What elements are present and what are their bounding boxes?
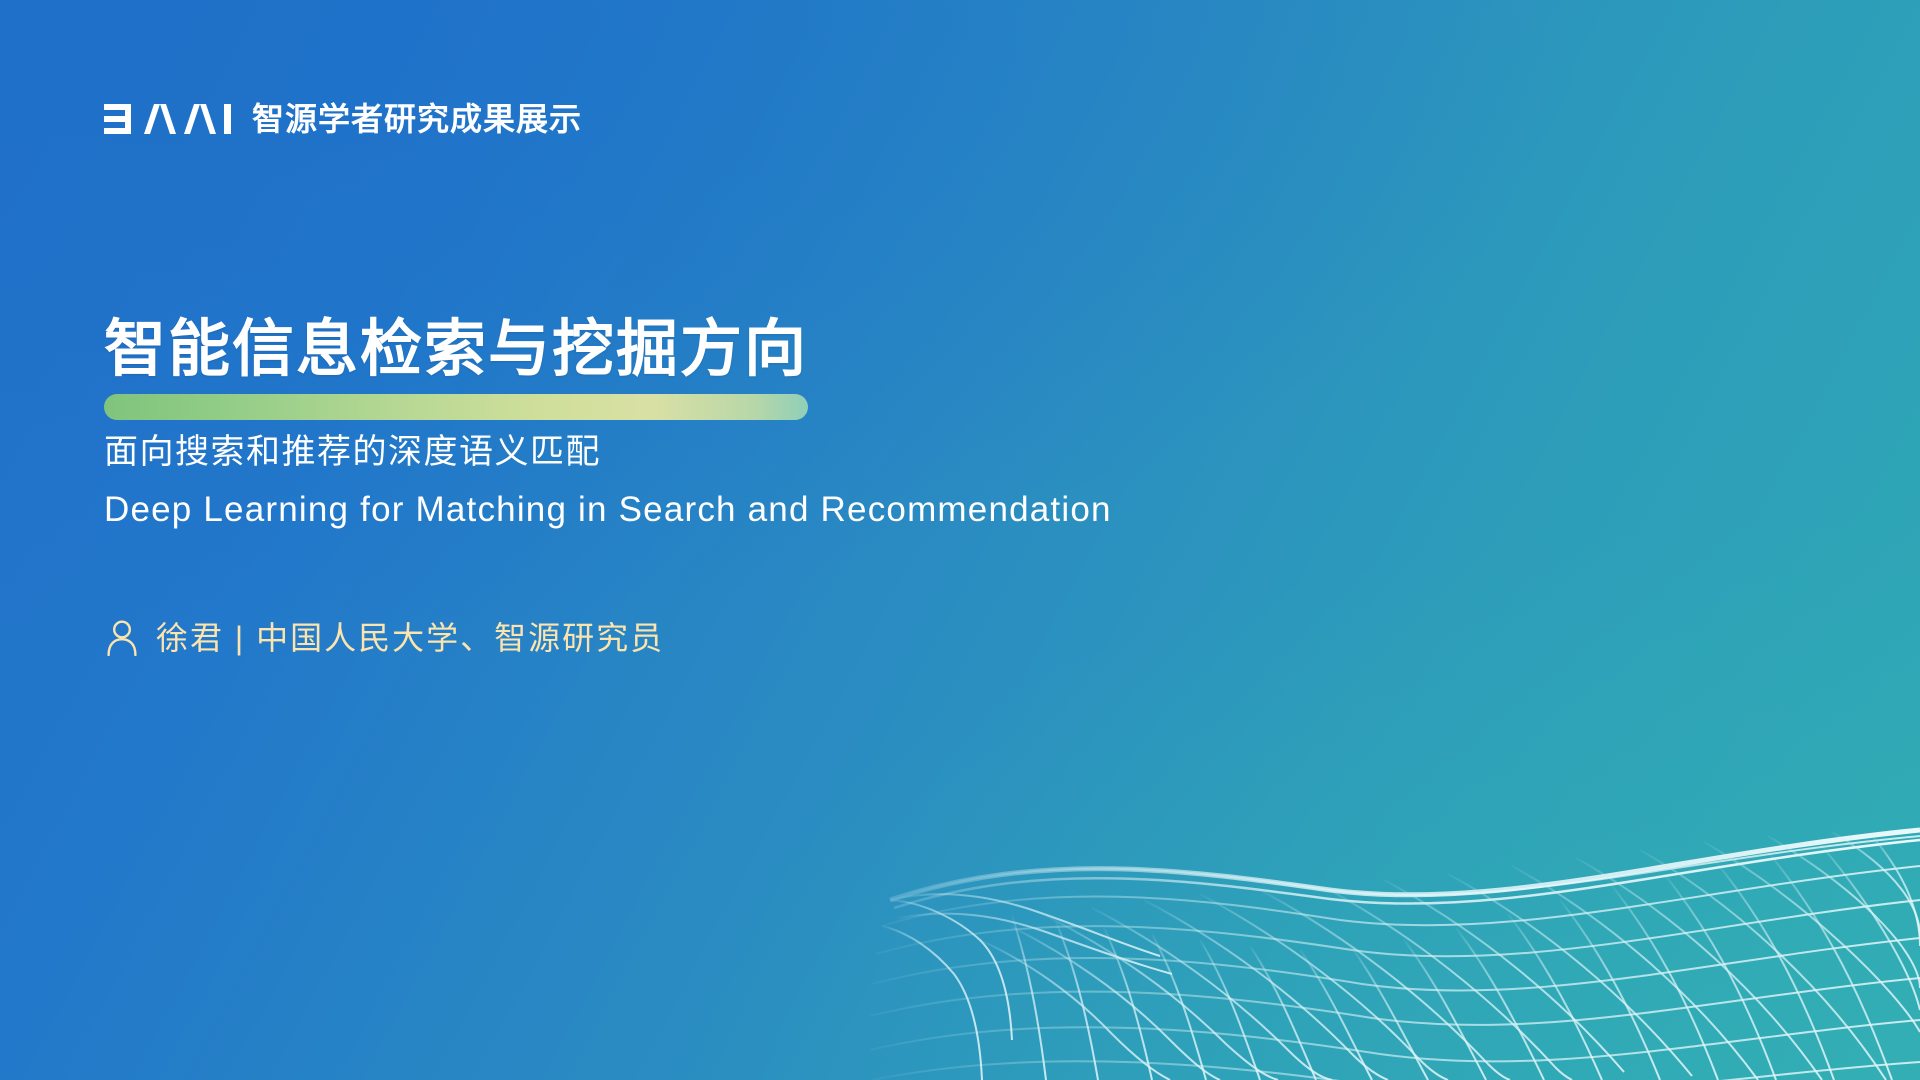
slide-content: 智源学者研究成果展示 智能信息检索与挖掘方向 面向搜索和推荐的深度语义匹配 De… xyxy=(0,0,1920,1080)
baai-wordmark-icon xyxy=(104,103,234,135)
brand-label: 智源学者研究成果展示 xyxy=(252,103,582,135)
page-title: 智能信息检索与挖掘方向 xyxy=(104,315,808,384)
subtitle-english: Deep Learning for Matching in Search and… xyxy=(104,485,1112,536)
author-label: 徐君 | 中国人民大学、智源研究员 xyxy=(156,622,664,654)
author-line: 徐君 | 中国人民大学、智源研究员 xyxy=(106,620,664,656)
presentation-slide: 智源学者研究成果展示 智能信息检索与挖掘方向 面向搜索和推荐的深度语义匹配 De… xyxy=(0,0,1920,1080)
subtitle-block: 面向搜索和推荐的深度语义匹配 Deep Learning for Matchin… xyxy=(104,428,1112,536)
title-highlight-bar xyxy=(104,394,808,420)
brand-lockup: 智源学者研究成果展示 xyxy=(104,103,582,135)
person-icon xyxy=(106,620,138,656)
page-title-wrapper: 智能信息检索与挖掘方向 xyxy=(104,273,808,426)
subtitle-chinese: 面向搜索和推荐的深度语义匹配 xyxy=(104,428,1112,477)
